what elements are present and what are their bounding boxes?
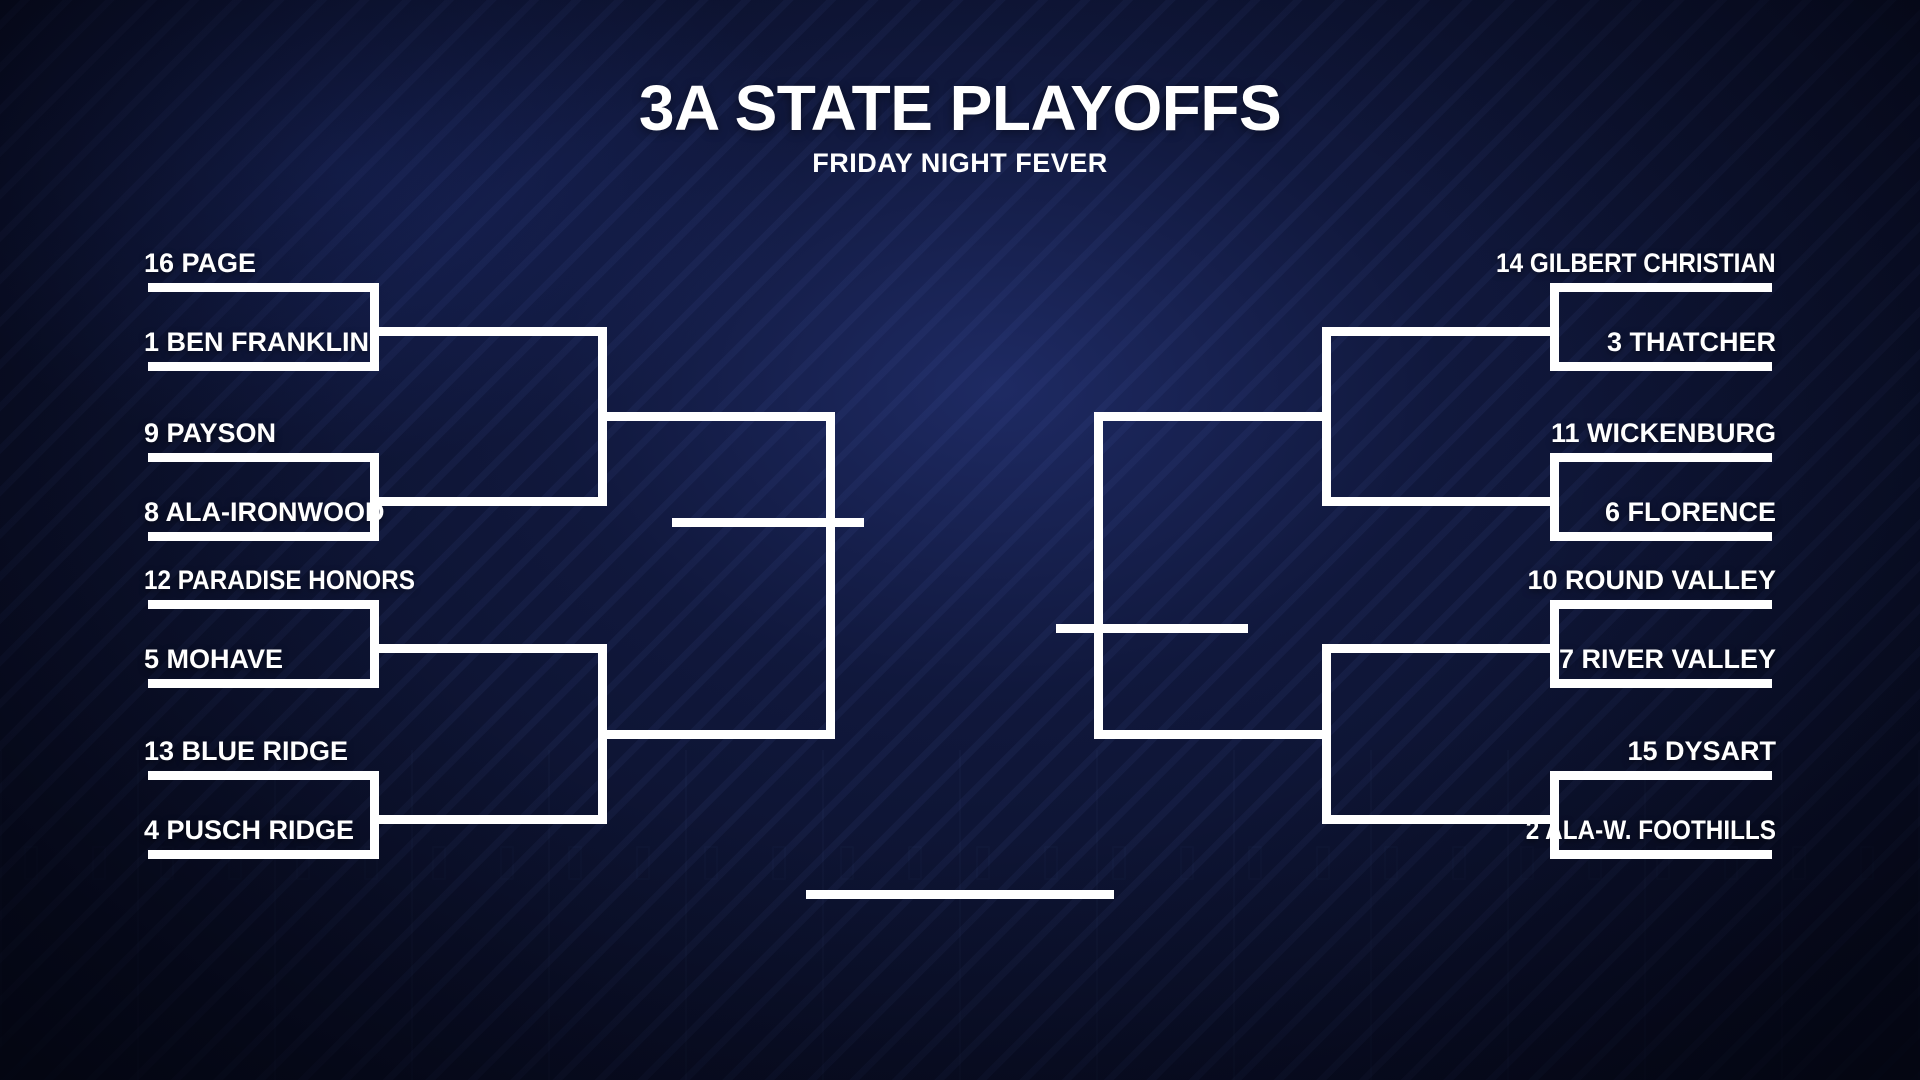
team-label-right-4: 6 FLORENCE (1605, 499, 1776, 526)
pair-connector-right-1 (1550, 283, 1559, 371)
pair-connector-right-2 (1550, 453, 1559, 541)
team-label-left-2: 1 BEN FRANKLIN (144, 329, 369, 356)
team-label-right-6: 7 RIVER VALLEY (1559, 646, 1776, 673)
quarterfinal-line-right-1 (1322, 327, 1550, 336)
semifinal-line-left-2 (598, 730, 826, 739)
match-line-right-2 (1550, 362, 1772, 371)
match-line-right-4 (1550, 532, 1772, 541)
semifinal-slot-lower (1056, 624, 1248, 633)
match-line-left-6 (148, 679, 370, 688)
semifinal-slot-upper (672, 518, 864, 527)
quarterfinal-line-right-3 (1322, 644, 1550, 653)
team-label-left-3: 9 PAYSON (144, 420, 276, 447)
match-line-right-5 (1550, 600, 1772, 609)
quarterfinal-line-left-4 (370, 815, 598, 824)
bracket-graphic: 3A STATE PLAYOFFS FRIDAY NIGHT FEVER 16 … (0, 0, 1920, 1080)
semifinal-line-right-2 (1094, 730, 1322, 739)
match-line-left-2 (148, 362, 370, 371)
championship-slot (806, 890, 1114, 899)
team-label-right-1: 14 GILBERT CHRISTIAN (1497, 250, 1776, 277)
team-label-right-2: 3 THATCHER (1607, 329, 1776, 356)
quarter-connector-right-2 (1322, 644, 1331, 824)
semifinal-line-right-1 (1094, 412, 1322, 421)
match-line-right-7 (1550, 771, 1772, 780)
pair-connector-right-4 (1550, 771, 1559, 859)
semi-connector-right (1094, 412, 1103, 739)
quarter-connector-right-1 (1322, 327, 1331, 506)
match-line-right-3 (1550, 453, 1772, 462)
team-label-left-8: 4 PUSCH RIDGE (144, 817, 354, 844)
match-line-left-3 (148, 453, 370, 462)
quarterfinal-line-left-2 (370, 497, 598, 506)
quarterfinal-line-right-2 (1322, 497, 1550, 506)
match-line-right-1 (1550, 283, 1772, 292)
team-label-left-1: 16 PAGE (144, 250, 256, 277)
match-line-left-4 (148, 532, 370, 541)
match-line-left-1 (148, 283, 370, 292)
tournament-bracket: 16 PAGE1 BEN FRANKLIN9 PAYSON8 ALA-IRONW… (0, 0, 1920, 1080)
semi-connector-left (826, 412, 835, 739)
team-label-left-7: 13 BLUE RIDGE (144, 738, 348, 765)
team-label-left-6: 5 MOHAVE (144, 646, 283, 673)
team-label-right-8: 2 ALA-W. FOOTHILLS (1526, 817, 1776, 844)
quarterfinal-line-left-3 (370, 644, 598, 653)
pair-connector-right-3 (1550, 600, 1559, 688)
semifinal-line-left-1 (598, 412, 826, 421)
match-line-right-6 (1550, 679, 1772, 688)
quarterfinal-line-left-1 (370, 327, 598, 336)
team-label-right-7: 15 DYSART (1627, 738, 1776, 765)
match-line-left-5 (148, 600, 370, 609)
match-line-right-8 (1550, 850, 1772, 859)
team-label-right-3: 11 WICKENBURG (1551, 420, 1776, 447)
match-line-left-7 (148, 771, 370, 780)
team-label-left-4: 8 ALA-IRONWOOD (144, 499, 384, 526)
team-label-left-5: 12 PARADISE HONORS (144, 567, 415, 594)
match-line-left-8 (148, 850, 370, 859)
team-label-right-5: 10 ROUND VALLEY (1527, 567, 1776, 594)
quarterfinal-line-right-4 (1322, 815, 1550, 824)
